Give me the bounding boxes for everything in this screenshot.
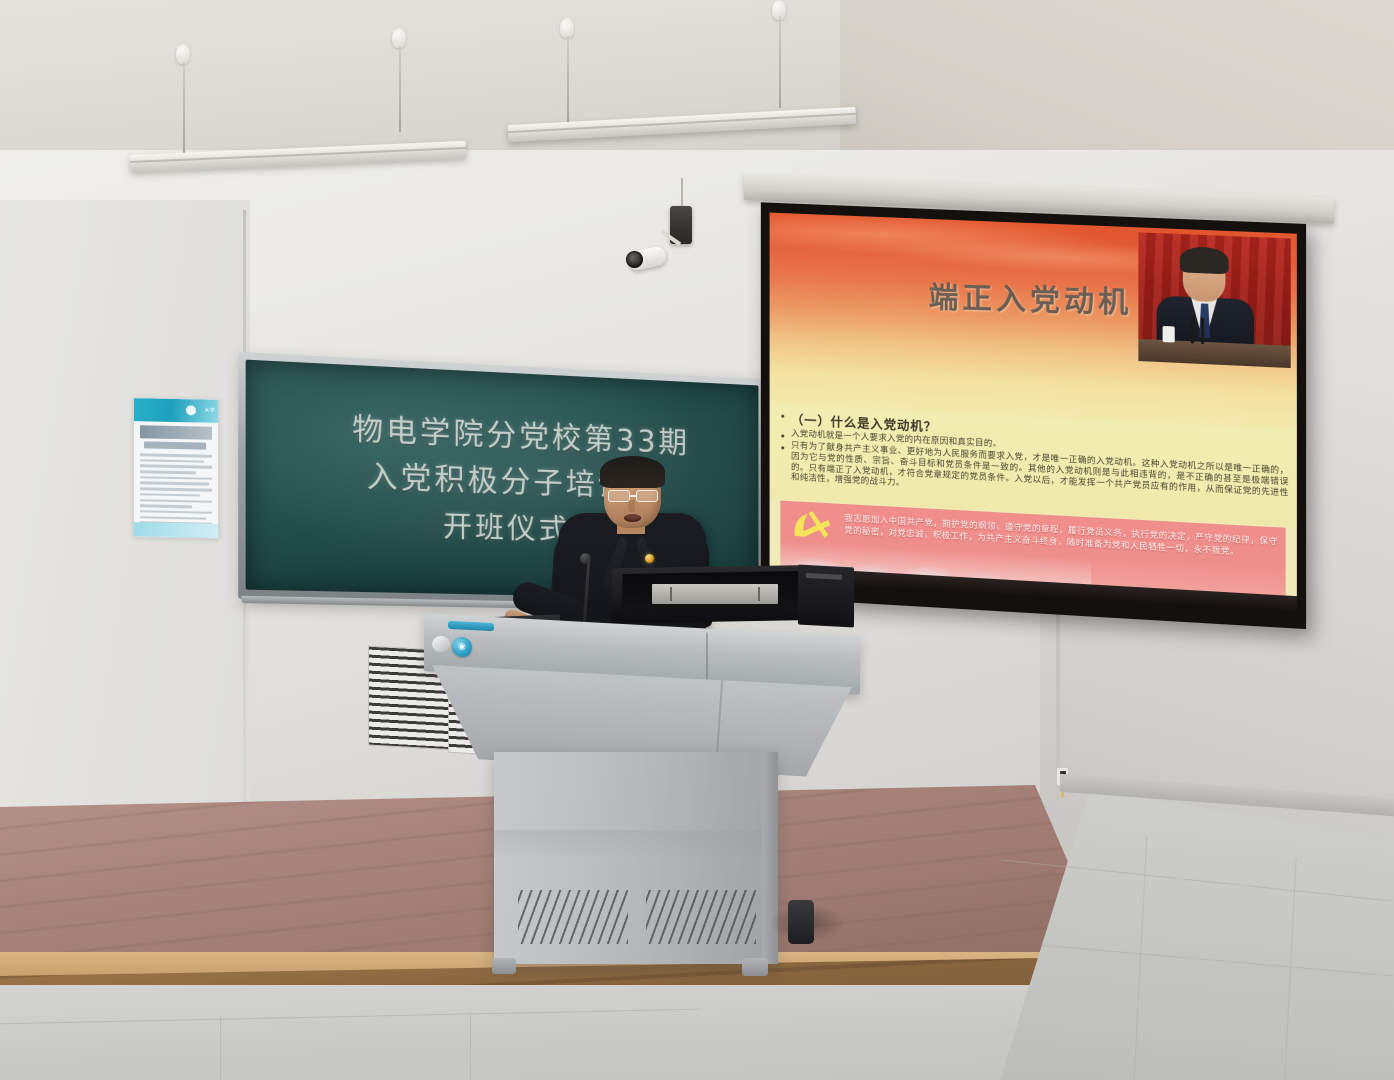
camera-lens-icon (626, 251, 643, 268)
school-logo-icon (186, 405, 196, 415)
speaker-hair (600, 456, 665, 488)
speaker-mouth (624, 514, 641, 522)
poster-text-line (140, 516, 206, 520)
podium-column-engraving (494, 830, 776, 856)
projected-slide: 端正入党动机 （一）什么是入党动机？ (770, 213, 1297, 613)
podium-vent-grill-left (518, 890, 628, 944)
podium-top-seam (706, 632, 708, 682)
speaker-eyebrow-right (637, 485, 656, 488)
podium-equipment-box[interactable] (798, 565, 854, 628)
light-wire-rear-left (567, 36, 569, 122)
poster-subtitle-bar (144, 441, 206, 449)
poster-footer (134, 522, 218, 538)
light-anchor-rear (560, 18, 574, 38)
podium-vent-grill-right (646, 890, 756, 944)
speaker-nose (628, 500, 635, 512)
poster-text-line (140, 493, 200, 497)
light-wire-front-left (183, 62, 185, 154)
poster-text-line (140, 482, 209, 486)
poster-text-line (140, 504, 192, 508)
leader-photo (1138, 232, 1290, 368)
projection-screen: 端正入党动机 （一）什么是入党动机？ (761, 202, 1306, 629)
podium-power-icon: ◉ (458, 641, 466, 652)
poster-text-line (140, 459, 204, 463)
poster-text-line (140, 476, 212, 480)
light-wire-front-right (399, 46, 401, 132)
photo-microphone (1201, 318, 1204, 344)
light-anchor-front-2 (392, 28, 406, 48)
poster-text-line (140, 487, 212, 491)
podium-foot-right (742, 958, 768, 976)
poster-text-line (140, 465, 212, 469)
glasses-bridge (629, 495, 637, 497)
camera-cord (681, 178, 683, 208)
classroom-scene: 大学 物电学院分党校第33期 入党积极分子培训班 开班仪式 (0, 0, 1394, 1080)
podium-foot-left (492, 958, 516, 974)
poster-text-line (140, 470, 196, 474)
light-wire-rear-right (779, 16, 781, 108)
podium-monitor-bezel (652, 584, 778, 604)
poster-logo-label: 大学 (204, 407, 215, 414)
photo-teacup (1163, 326, 1175, 343)
glasses-lens-right (636, 490, 658, 502)
party-emblem-pin (645, 554, 654, 563)
glasses-lens-left (608, 490, 630, 502)
tile-grout-line (220, 1016, 221, 1080)
podium-cable-bundle (788, 900, 814, 944)
poster-header: 大学 (134, 398, 218, 423)
poster-text-line (140, 453, 212, 457)
light-anchor-front (176, 44, 190, 64)
bullet-dot-icon (781, 435, 784, 438)
bullet-dot-icon (781, 446, 784, 449)
poster-text-line (140, 510, 212, 514)
poster-text-line (140, 499, 212, 503)
wall-notice-poster: 大学 (133, 397, 219, 539)
tile-grout-line (470, 1012, 471, 1080)
bullet-dot-icon (781, 415, 784, 418)
hammer-and-sickle-icon (789, 508, 834, 544)
speaker-eyebrow-left (609, 485, 628, 488)
photo-microphone (1191, 317, 1194, 343)
poster-title-bar (140, 425, 212, 440)
